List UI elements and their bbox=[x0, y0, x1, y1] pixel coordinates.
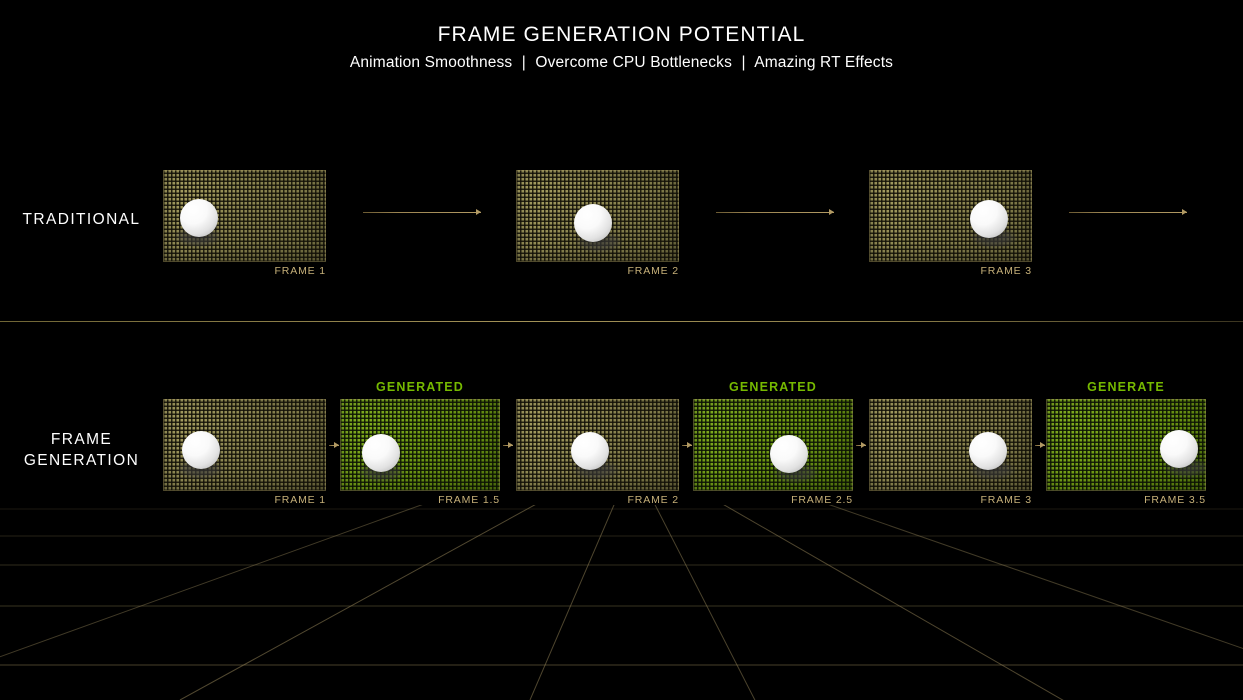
framegen-tag-1: GENERATED bbox=[340, 380, 500, 394]
traditional-arrow-1 bbox=[363, 208, 481, 216]
subtitle-part-3: Amazing RT Effects bbox=[754, 54, 893, 71]
framegen-arrow-5 bbox=[1035, 441, 1045, 449]
traditional-arrow-3 bbox=[1069, 208, 1187, 216]
traditional-frame-1-caption: FRAME 1 bbox=[176, 265, 326, 277]
subtitle-separator-1: | bbox=[517, 54, 531, 71]
arrow-shaft bbox=[716, 212, 834, 213]
arrow-head-icon bbox=[1182, 209, 1187, 215]
arrow-head-icon bbox=[476, 209, 481, 215]
row-label-frame-generation-line2: GENERATION bbox=[0, 451, 163, 472]
framegen-arrow-2 bbox=[503, 441, 513, 449]
framegen-arrow-3 bbox=[682, 441, 692, 449]
slide-canvas: FRAME GENERATION POTENTIAL Animation Smo… bbox=[0, 0, 1243, 700]
section-divider bbox=[0, 321, 1243, 322]
framegen-frame-1-caption: FRAME 1 bbox=[176, 494, 326, 506]
framegen-frame-2 bbox=[516, 399, 679, 491]
row-label-frame-generation: FRAME GENERATION bbox=[0, 430, 163, 472]
perspective-floor-grid bbox=[0, 505, 1243, 700]
ball-sphere bbox=[571, 432, 609, 470]
framegen-arrow-4 bbox=[856, 441, 866, 449]
traditional-frame-3-caption: FRAME 3 bbox=[882, 265, 1032, 277]
arrow-head-icon bbox=[1040, 442, 1045, 448]
traditional-frame-2 bbox=[516, 170, 679, 262]
framegen-frame-3-5 bbox=[1046, 399, 1206, 491]
arrow-shaft bbox=[363, 212, 481, 213]
arrow-head-icon bbox=[687, 442, 692, 448]
traditional-frame-2-caption: FRAME 2 bbox=[529, 265, 679, 277]
row-label-frame-generation-line1: FRAME bbox=[0, 430, 163, 451]
framegen-tag-2: GENERATED bbox=[693, 380, 853, 394]
ball-sphere bbox=[770, 435, 808, 473]
subtitle-part-1: Animation Smoothness bbox=[350, 54, 512, 71]
traditional-frame-3 bbox=[869, 170, 1032, 262]
ball-sphere bbox=[1160, 430, 1198, 468]
row-label-traditional: TRADITIONAL bbox=[0, 210, 163, 231]
ball-sphere bbox=[969, 432, 1007, 470]
subtitle-separator-2: | bbox=[736, 54, 750, 71]
page-subtitle: Animation Smoothness | Overcome CPU Bott… bbox=[0, 46, 1243, 72]
framegen-frame-3-5-caption: FRAME 3.5 bbox=[1056, 494, 1206, 506]
framegen-frame-1-5-caption: FRAME 1.5 bbox=[350, 494, 500, 506]
ball-sphere bbox=[574, 204, 612, 242]
framegen-frame-1-5 bbox=[340, 399, 500, 491]
framegen-frame-3 bbox=[869, 399, 1032, 491]
page-title: FRAME GENERATION POTENTIAL bbox=[0, 0, 1243, 46]
arrow-shaft bbox=[1069, 212, 1187, 213]
arrow-head-icon bbox=[334, 442, 339, 448]
ball-sphere bbox=[180, 199, 218, 237]
ball-sphere bbox=[970, 200, 1008, 238]
framegen-tag-3: GENERATE bbox=[1046, 380, 1206, 394]
framegen-frame-3-caption: FRAME 3 bbox=[882, 494, 1032, 506]
framegen-frame-1 bbox=[163, 399, 326, 491]
subtitle-part-2: Overcome CPU Bottlenecks bbox=[535, 54, 732, 71]
framegen-frame-2-5-caption: FRAME 2.5 bbox=[703, 494, 853, 506]
header: FRAME GENERATION POTENTIAL Animation Smo… bbox=[0, 0, 1243, 72]
ball-sphere bbox=[362, 434, 400, 472]
framegen-frame-2-5 bbox=[693, 399, 853, 491]
framegen-frame-2-caption: FRAME 2 bbox=[529, 494, 679, 506]
arrow-head-icon bbox=[508, 442, 513, 448]
arrow-head-icon bbox=[861, 442, 866, 448]
traditional-arrow-2 bbox=[716, 208, 834, 216]
traditional-frame-1 bbox=[163, 170, 326, 262]
arrow-head-icon bbox=[829, 209, 834, 215]
framegen-arrow-1 bbox=[329, 441, 339, 449]
ball-sphere bbox=[182, 431, 220, 469]
